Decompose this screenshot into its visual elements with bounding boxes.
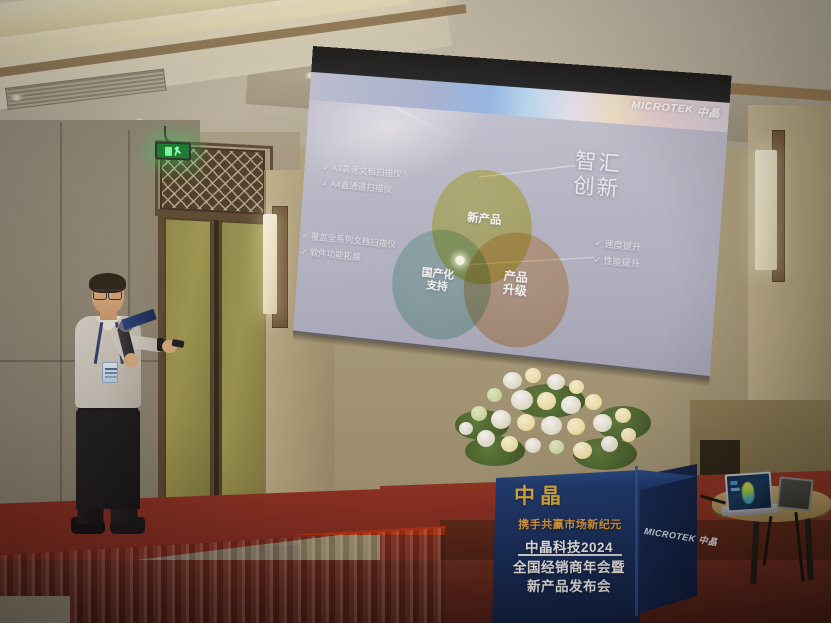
bullet-group-bottom-left: ✓覆盖全系列文档扫描仪 ✓软件功能拓展 bbox=[300, 227, 396, 268]
downlight-icon bbox=[10, 94, 23, 101]
microtek-wordmark: MICROTEK bbox=[631, 100, 694, 116]
check-icon: ✓ bbox=[321, 178, 329, 189]
hand-left bbox=[124, 353, 138, 368]
floor-tile bbox=[0, 596, 70, 623]
microtek-wordmark-cn: 中晶 bbox=[696, 103, 720, 121]
check-icon: ✓ bbox=[322, 162, 330, 173]
scan-preview-image bbox=[741, 482, 755, 505]
exit-sign-icon bbox=[155, 141, 191, 160]
laptop-display bbox=[727, 474, 771, 511]
podium-title-line3: 新产品发布会 bbox=[502, 575, 636, 595]
bullet-text: A4直通道扫描仪 bbox=[330, 179, 392, 195]
slide-title-line1: 智汇 bbox=[574, 150, 623, 178]
running-person-icon bbox=[174, 146, 182, 156]
photo-scene: MICROTEK 中晶 智汇 创新 新产品 产品 升级 bbox=[0, 0, 831, 623]
podium: 中晶 携手共赢市场新纪元 中晶科技2024 全国经销商年会暨 新产品发布会 MI… bbox=[492, 456, 697, 623]
eyeglasses-icon bbox=[93, 289, 122, 297]
slide-canvas: 智汇 创新 新产品 产品 升级 国产化 支持 bbox=[293, 100, 727, 378]
check-icon: ✓ bbox=[593, 254, 601, 265]
wall-sconce-left bbox=[263, 214, 277, 314]
bullet-item: ✓性能提升 bbox=[593, 251, 641, 272]
wall-sconce-right bbox=[755, 150, 777, 270]
exit-door-icon bbox=[165, 146, 172, 155]
bullet-text: 软件功能拓展 bbox=[309, 247, 361, 262]
podium-title-line2: 全国经销商年会暨 bbox=[502, 556, 636, 576]
check-icon: ✓ bbox=[594, 238, 602, 249]
laptop[interactable] bbox=[725, 471, 774, 512]
door-right-panel[interactable] bbox=[220, 220, 268, 523]
bullet-text: 速度提升 bbox=[604, 239, 641, 253]
check-icon: ✓ bbox=[301, 230, 309, 241]
ui-block-icon bbox=[730, 481, 737, 485]
door-gap bbox=[214, 220, 219, 520]
ui-block-icon bbox=[731, 488, 740, 492]
microtek-logo: MICROTEK 中晶 bbox=[631, 98, 721, 120]
bullet-group-right: ✓速度提升 ✓性能提升 bbox=[593, 235, 642, 273]
presenter bbox=[62, 276, 187, 542]
podium-title-line1: 中晶科技2024 bbox=[504, 536, 634, 556]
podium-tagline: 携手共赢市场新纪元 bbox=[506, 516, 634, 532]
bullet-text: 性能提升 bbox=[603, 255, 640, 269]
tablet-device[interactable] bbox=[776, 476, 813, 511]
trousers bbox=[76, 409, 140, 509]
check-icon: ✓ bbox=[300, 246, 308, 257]
podium-gold-mark: 中晶 bbox=[514, 480, 622, 516]
name-badge bbox=[102, 362, 118, 383]
projection-screen[interactable]: MICROTEK 中晶 智汇 创新 新产品 产品 升级 bbox=[293, 46, 732, 378]
venn-diagram: 新产品 产品 升级 国产化 支持 bbox=[389, 163, 588, 354]
